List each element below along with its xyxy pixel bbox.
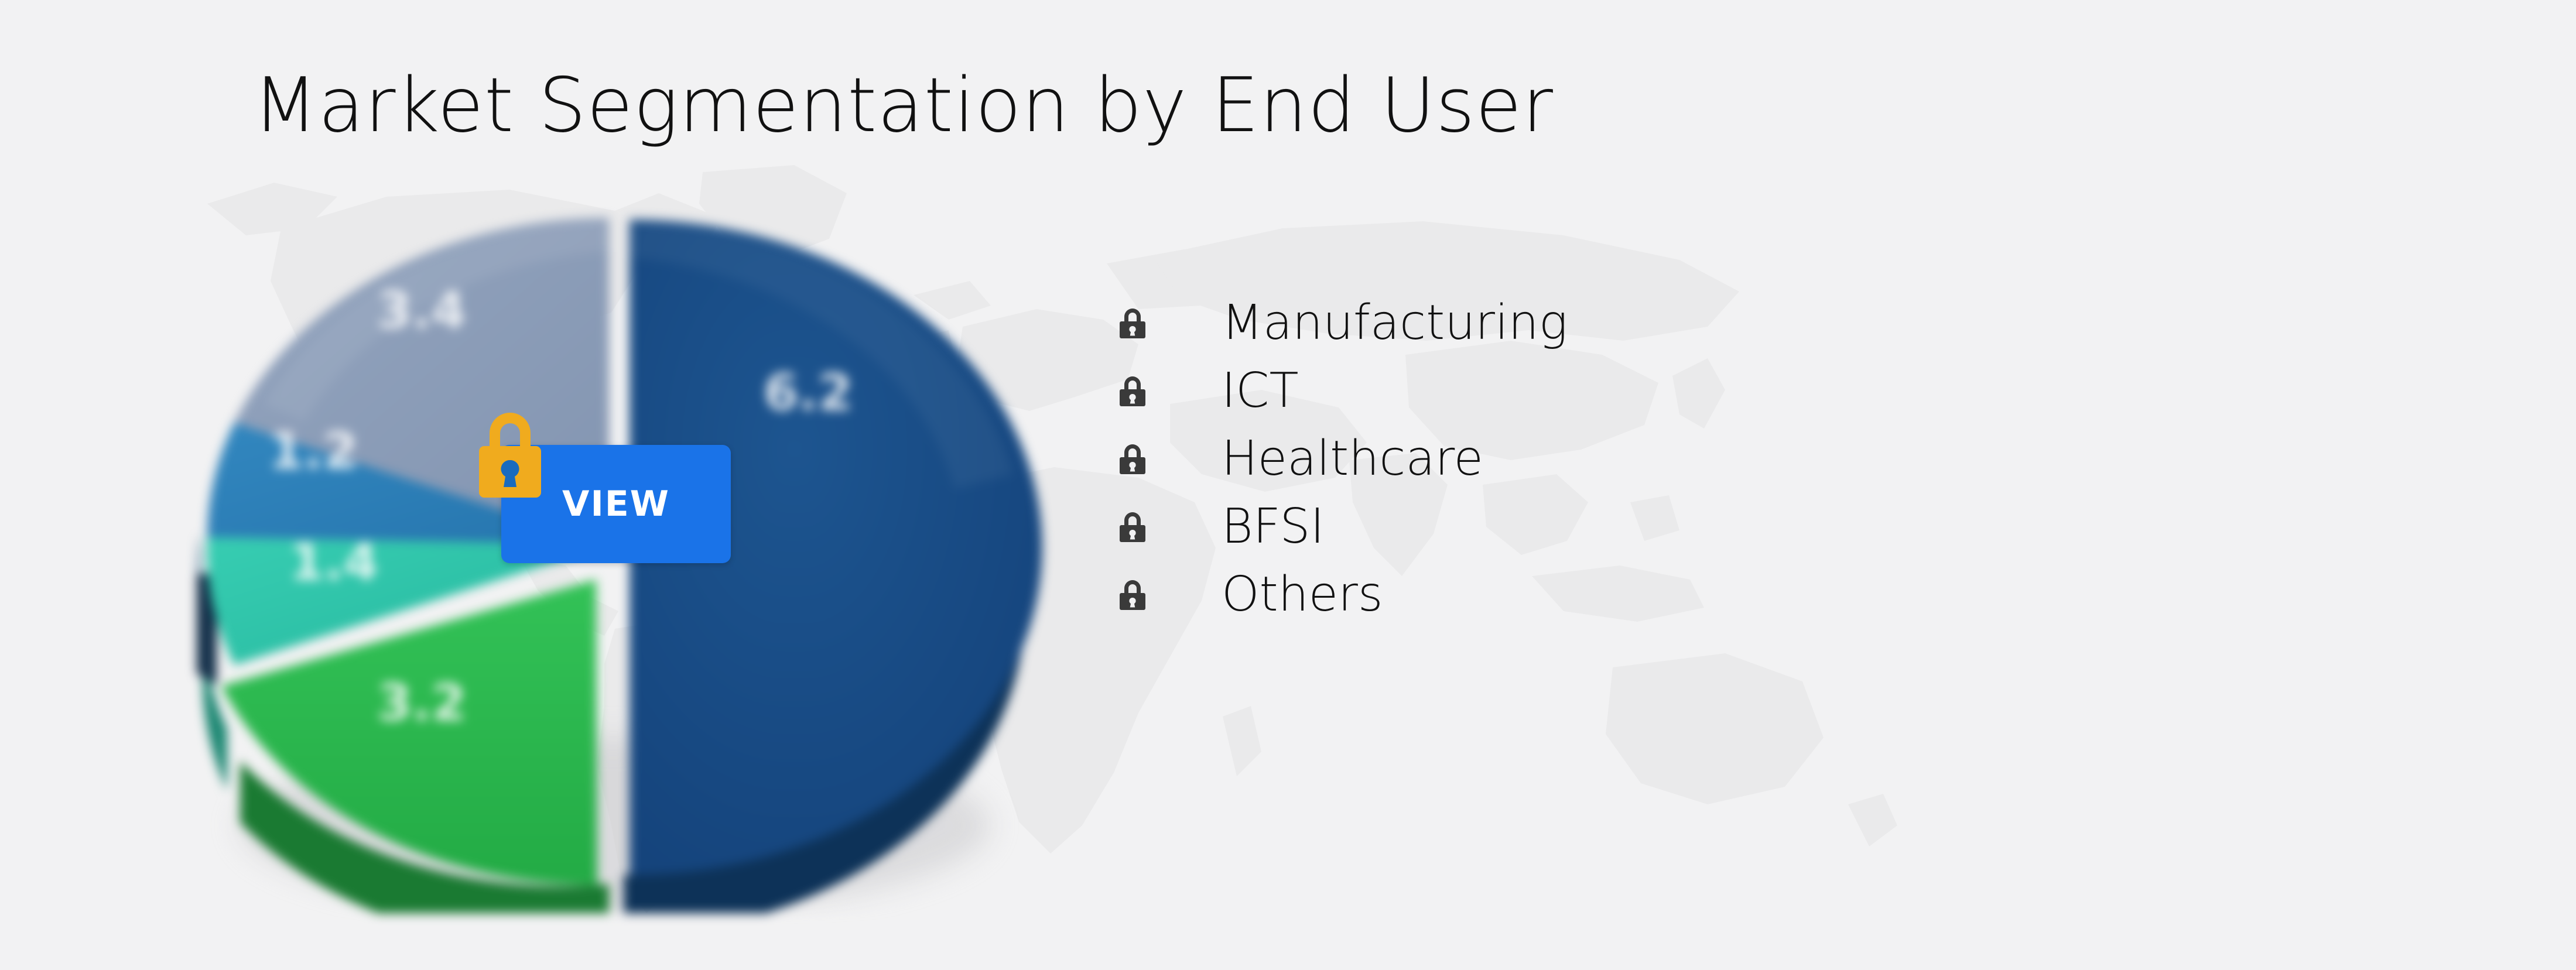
lock-icon: [1117, 375, 1148, 407]
legend-item-label: Healthcare: [1222, 435, 1483, 483]
slide-canvas: Market Segmentation by End User: [0, 0, 2576, 970]
legend-item-others[interactable]: Others: [1117, 561, 1820, 629]
lock-icon: [1117, 307, 1148, 340]
legend-item-label: ICT: [1222, 367, 1299, 415]
lock-icon: [1117, 578, 1148, 611]
page-title: Market Segmentation by End User: [253, 61, 1554, 151]
legend-item-bfsi[interactable]: BFSI: [1117, 493, 1820, 561]
legend-item-manufacturing[interactable]: Manufacturing: [1117, 289, 1820, 357]
lock-icon: [1117, 443, 1148, 475]
legend-item-label: BFSI: [1222, 503, 1325, 551]
legend-item-label: Others: [1222, 571, 1383, 619]
svg-text:6.2: 6.2: [764, 364, 853, 422]
svg-text:1.2: 1.2: [269, 422, 358, 481]
lock-icon: [475, 406, 545, 503]
view-button-label: VIEW: [562, 486, 670, 522]
legend-item-ict[interactable]: ICT: [1117, 357, 1820, 425]
svg-text:3.2: 3.2: [377, 674, 466, 732]
legend: Manufacturing ICT Healthcare: [1117, 289, 1820, 629]
svg-text:1.4: 1.4: [289, 533, 378, 592]
legend-item-healthcare[interactable]: Healthcare: [1117, 425, 1820, 493]
svg-text:3.4: 3.4: [377, 282, 466, 340]
legend-item-label: Manufacturing: [1222, 299, 1568, 347]
lock-icon: [1117, 510, 1148, 543]
locked-content-overlay: VIEW: [475, 406, 733, 567]
